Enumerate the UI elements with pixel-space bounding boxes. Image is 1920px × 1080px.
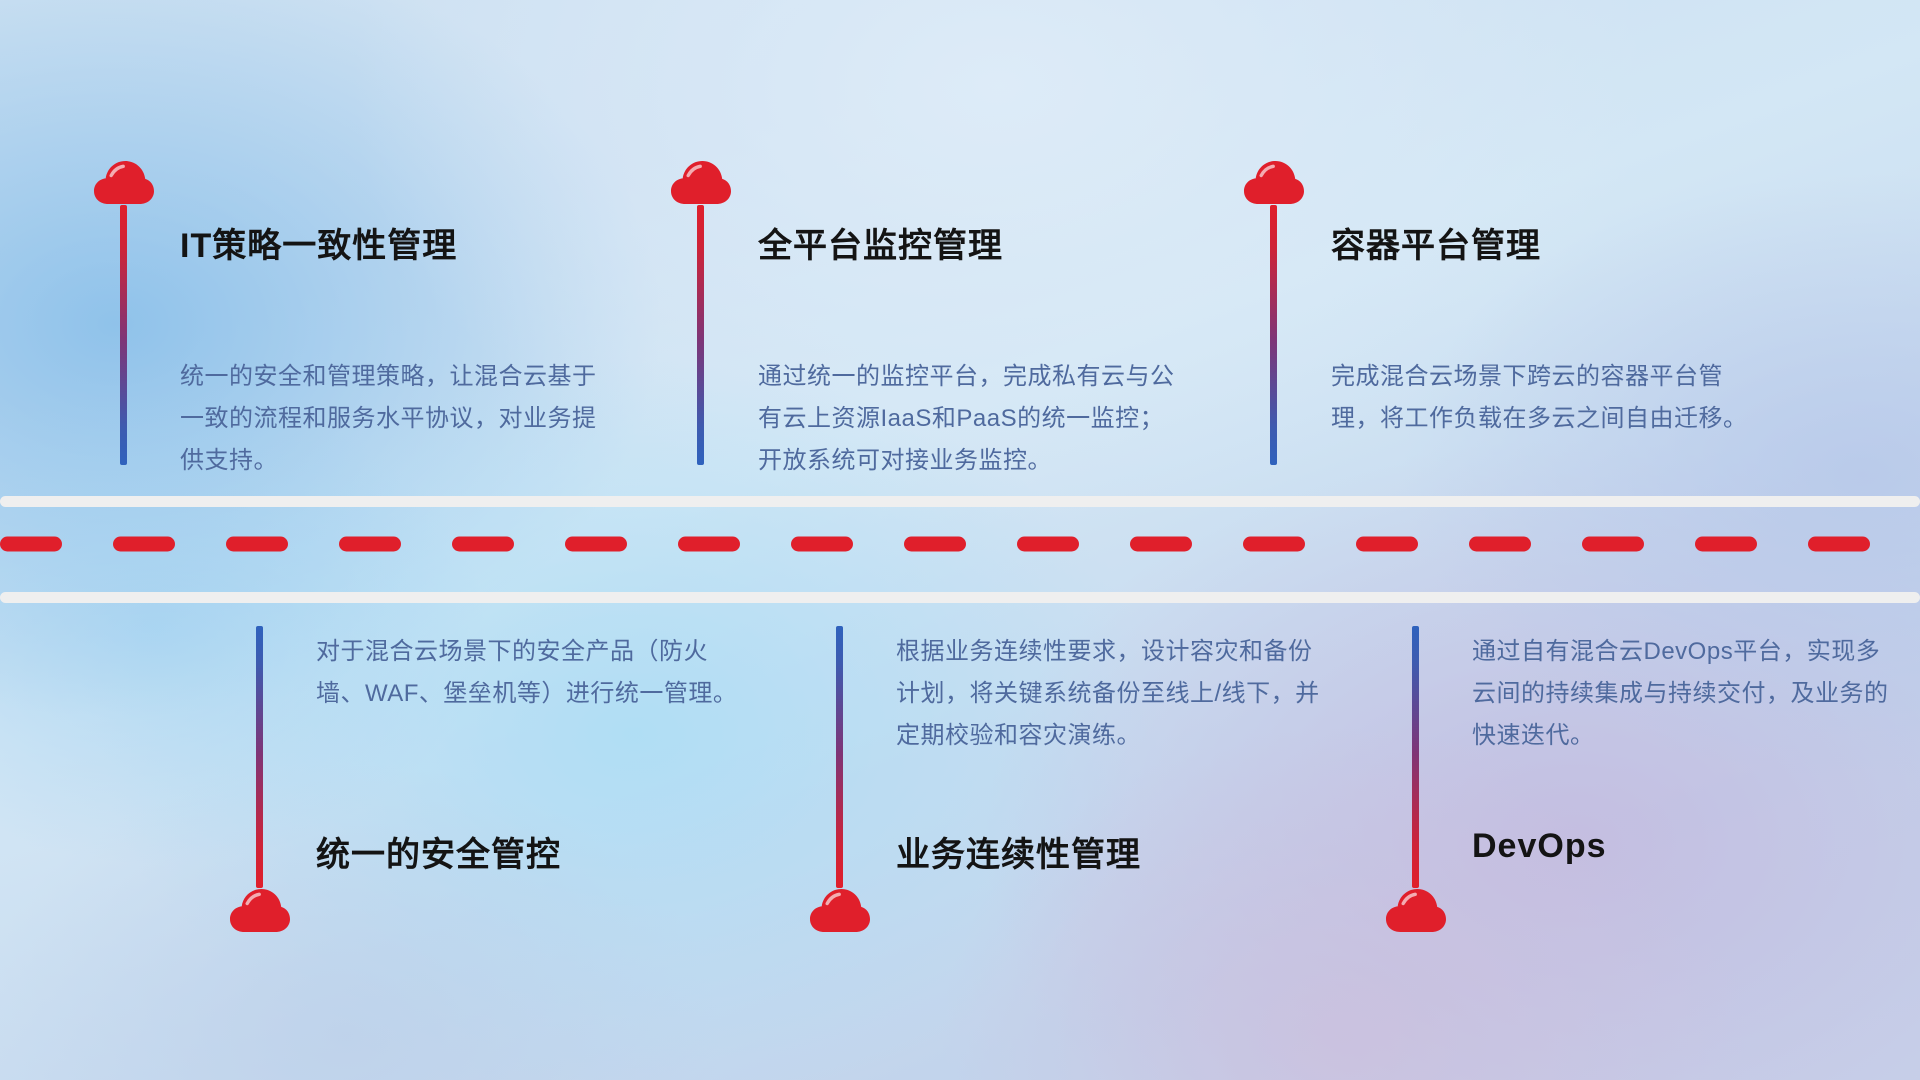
road-dash bbox=[565, 537, 627, 552]
cloud-icon bbox=[229, 888, 291, 934]
road-edge-bottom bbox=[0, 592, 1920, 603]
connector-line bbox=[697, 205, 704, 465]
road-edge-top bbox=[0, 496, 1920, 507]
connector-line bbox=[120, 205, 127, 465]
cloud-icon bbox=[93, 160, 155, 206]
bottom-body-2: 根据业务连续性要求，设计容灾和备份计划，将关键系统备份至线上/线下，并定期校验和… bbox=[896, 631, 1326, 757]
bottom-heading-3: DevOps bbox=[1472, 827, 1607, 866]
cloud-icon bbox=[1385, 888, 1447, 934]
bottom-body-3: 通过自有混合云DevOps平台，实现多云间的持续集成与持续交付，及业务的快速迭代… bbox=[1472, 631, 1902, 757]
road-dash bbox=[113, 537, 175, 552]
top-body-1: 统一的安全和管理策略，让混合云基于一致的流程和服务水平协议，对业务提供支持。 bbox=[180, 356, 600, 482]
road-dash bbox=[791, 537, 853, 552]
road-dash bbox=[1017, 537, 1079, 552]
road-dash bbox=[1695, 537, 1757, 552]
road-dash bbox=[904, 537, 966, 552]
cloud-icon bbox=[1243, 160, 1305, 206]
road-dash bbox=[452, 537, 514, 552]
bottom-heading-2: 业务连续性管理 bbox=[896, 827, 1141, 876]
road-dash bbox=[1582, 537, 1644, 552]
road-dash bbox=[1808, 537, 1870, 552]
top-heading-3: 容器平台管理 bbox=[1331, 218, 1541, 267]
top-body-3: 完成混合云场景下跨云的容器平台管理，将工作负载在多云之间自由迁移。 bbox=[1331, 356, 1751, 440]
road-dash bbox=[339, 537, 401, 552]
bottom-heading-1: 统一的安全管控 bbox=[316, 827, 561, 876]
top-heading-1: IT策略一致性管理 bbox=[180, 218, 457, 267]
connector-line bbox=[1270, 205, 1277, 465]
connector-line bbox=[1412, 626, 1419, 888]
top-heading-2: 全平台监控管理 bbox=[758, 218, 1003, 267]
road-dash bbox=[1130, 537, 1192, 552]
cloud-icon bbox=[670, 160, 732, 206]
road-dash bbox=[1469, 537, 1531, 552]
infographic-canvas: IT策略一致性管理 统一的安全和管理策略，让混合云基于一致的流程和服务水平协议，… bbox=[0, 0, 1920, 1080]
cloud-icon bbox=[809, 888, 871, 934]
top-body-2: 通过统一的监控平台，完成私有云与公有云上资源IaaS和PaaS的统一监控；开放系… bbox=[758, 356, 1178, 482]
bottom-body-1: 对于混合云场景下的安全产品（防火墙、WAF、堡垒机等）进行统一管理。 bbox=[316, 631, 746, 715]
road-center-dashes bbox=[0, 537, 1920, 552]
connector-line bbox=[836, 626, 843, 888]
connector-line bbox=[256, 626, 263, 888]
road-dash bbox=[1243, 537, 1305, 552]
road-dash bbox=[0, 537, 62, 552]
road-dash bbox=[678, 537, 740, 552]
road-dash bbox=[1356, 537, 1418, 552]
road-dash bbox=[226, 537, 288, 552]
